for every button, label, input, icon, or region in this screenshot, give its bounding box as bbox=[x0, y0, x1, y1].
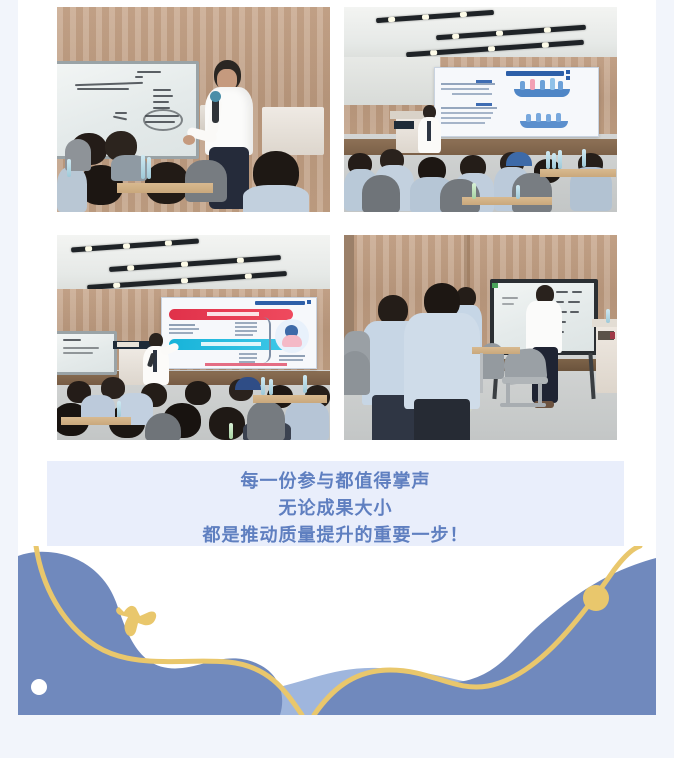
gold-circle bbox=[583, 585, 609, 611]
photo-projector-presentation[interactable] bbox=[344, 7, 617, 212]
closing-message-block: 每一份参与都值得掌声 无论成果大小 都是推动质量提升的重要一步！ bbox=[47, 461, 624, 555]
wave-footer-decoration bbox=[18, 546, 656, 715]
content-card: 每一份参与都值得掌声 无论成果大小 都是推动质量提升的重要一步！ bbox=[18, 0, 656, 715]
white-circle bbox=[31, 679, 47, 695]
wave-footer-svg bbox=[18, 546, 656, 715]
training-session-photo-grid bbox=[57, 7, 617, 445]
photo-group-discussion[interactable] bbox=[344, 235, 617, 440]
closing-message-line-1: 每一份参与都值得掌声 bbox=[241, 472, 431, 490]
blue-wave-left bbox=[18, 552, 282, 715]
photo-slide-lecture[interactable] bbox=[57, 235, 330, 440]
closing-message-line-3: 都是推动质量提升的重要一步！ bbox=[203, 526, 469, 544]
closing-message-line-2: 无论成果大小 bbox=[279, 499, 393, 517]
photo-whiteboard-lecture[interactable] bbox=[57, 7, 330, 212]
page-root: 每一份参与都值得掌声 无论成果大小 都是推动质量提升的重要一步！ bbox=[0, 0, 674, 758]
